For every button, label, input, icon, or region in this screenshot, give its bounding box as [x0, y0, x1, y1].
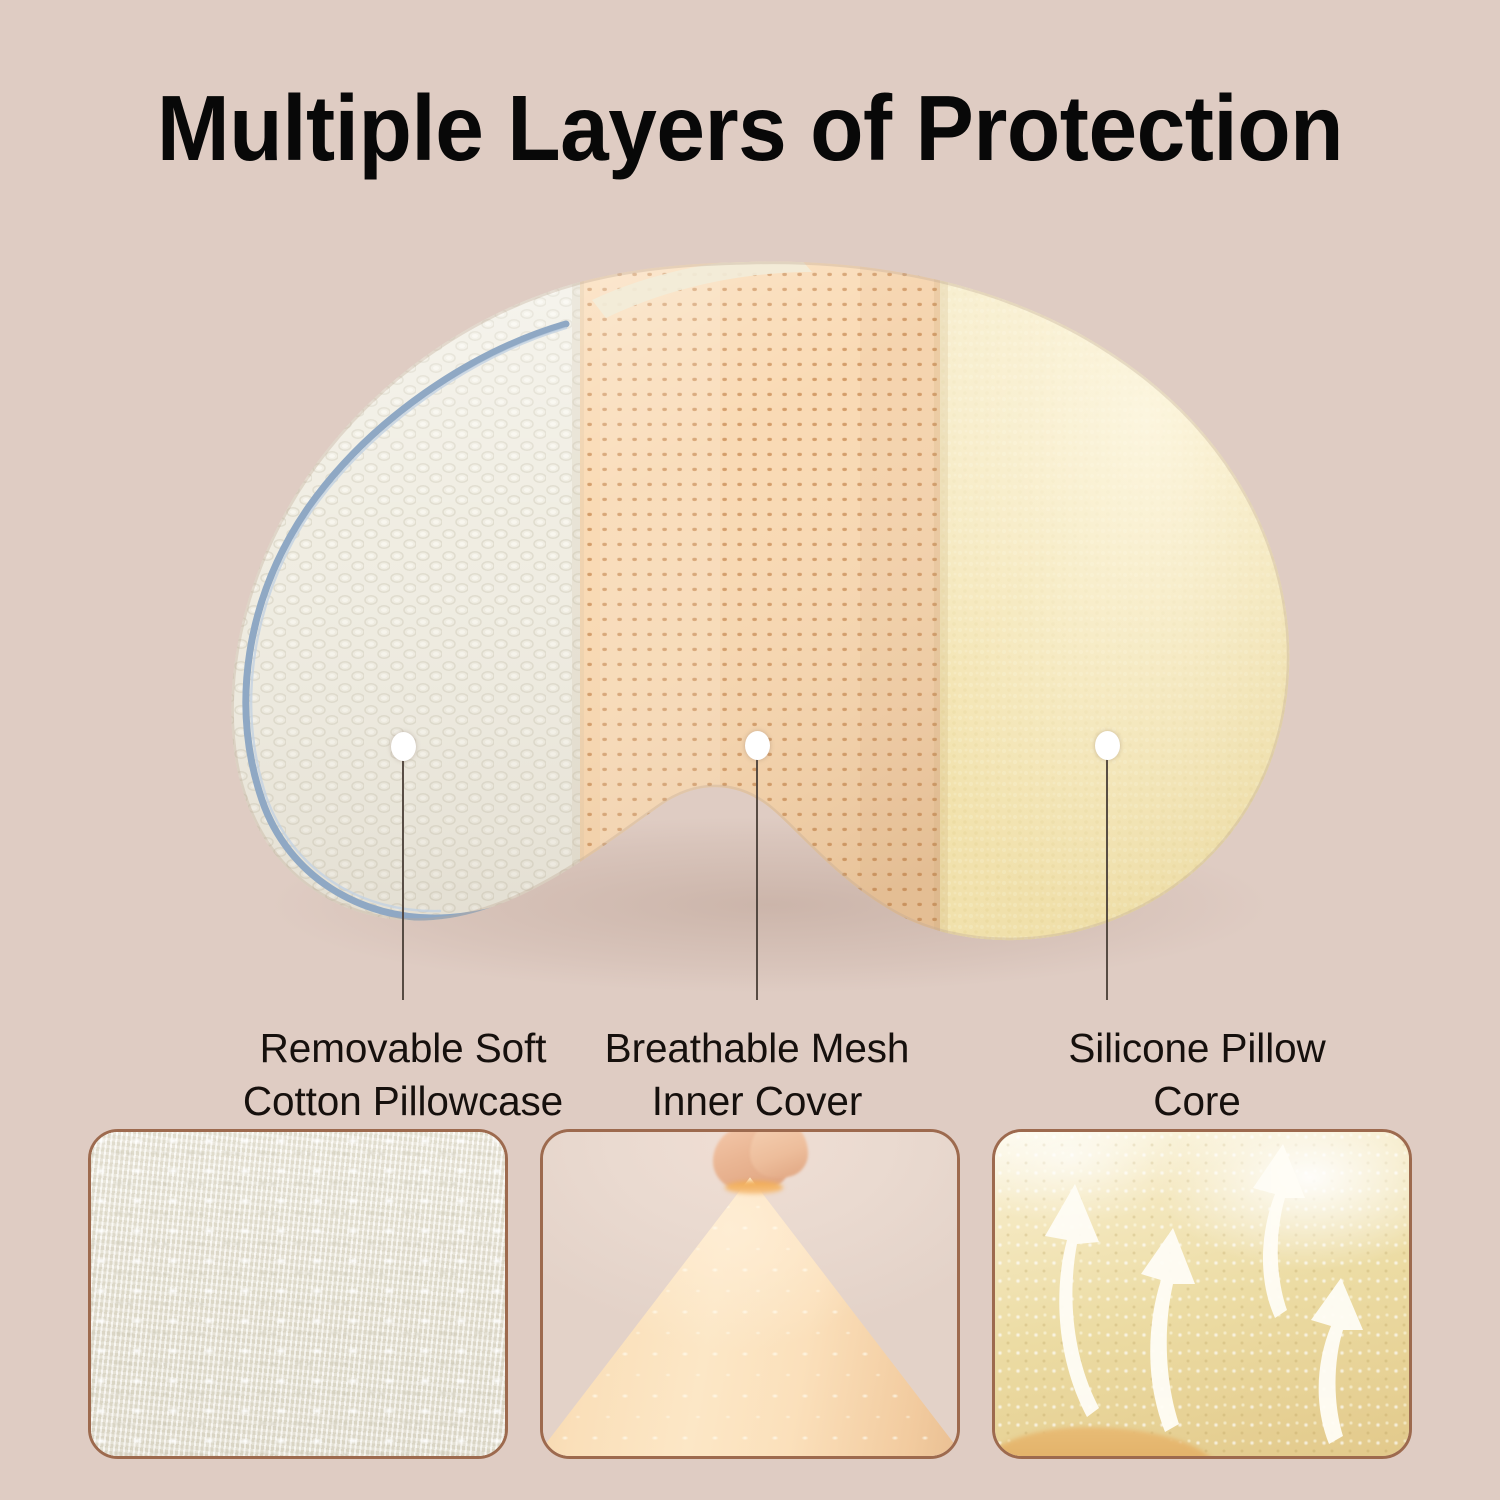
mesh-perforation-pattern-offset [540, 1177, 960, 1459]
callout-line-mesh [756, 757, 758, 1000]
callout-label-core: Silicone Pillow Core [917, 1022, 1477, 1127]
airflow-arrow-icon-4 [1311, 1278, 1363, 1444]
thumbnail-mesh-stretch[interactable] [540, 1129, 960, 1459]
thumbnail-foam-airflow[interactable] [992, 1129, 1412, 1459]
callout-dot-core[interactable] [1095, 731, 1120, 760]
airflow-arrow-icon-1 [1045, 1184, 1099, 1417]
airflow-arrow-icon-2 [1141, 1228, 1195, 1432]
layer-silicone-core [920, 190, 1420, 1010]
pinch-point [725, 1181, 783, 1194]
thumbnail-cotton-fabric[interactable] [88, 1129, 508, 1459]
callout-dot-cotton[interactable] [391, 732, 416, 761]
callout-label-core-line1: Silicone Pillow [917, 1022, 1477, 1075]
callout-label-core-line2: Core [917, 1075, 1477, 1128]
mesh-cone-shape [540, 1177, 960, 1459]
airflow-arrow-icon-3 [1253, 1144, 1305, 1318]
mesh-stretch-background [543, 1132, 957, 1456]
infographic-page: Multiple Layers of Protection [0, 0, 1500, 1500]
callout-line-cotton [402, 758, 404, 1000]
foam-airflow-background [995, 1132, 1409, 1456]
cotton-fabric-texture [91, 1132, 505, 1456]
finger-second-icon [750, 1129, 808, 1177]
callout-line-core [1106, 757, 1108, 1000]
pillow-cutaway-illustration [0, 0, 1500, 1010]
callout-dot-mesh[interactable] [745, 731, 770, 760]
layer-cotton-pillowcase [180, 190, 590, 1010]
